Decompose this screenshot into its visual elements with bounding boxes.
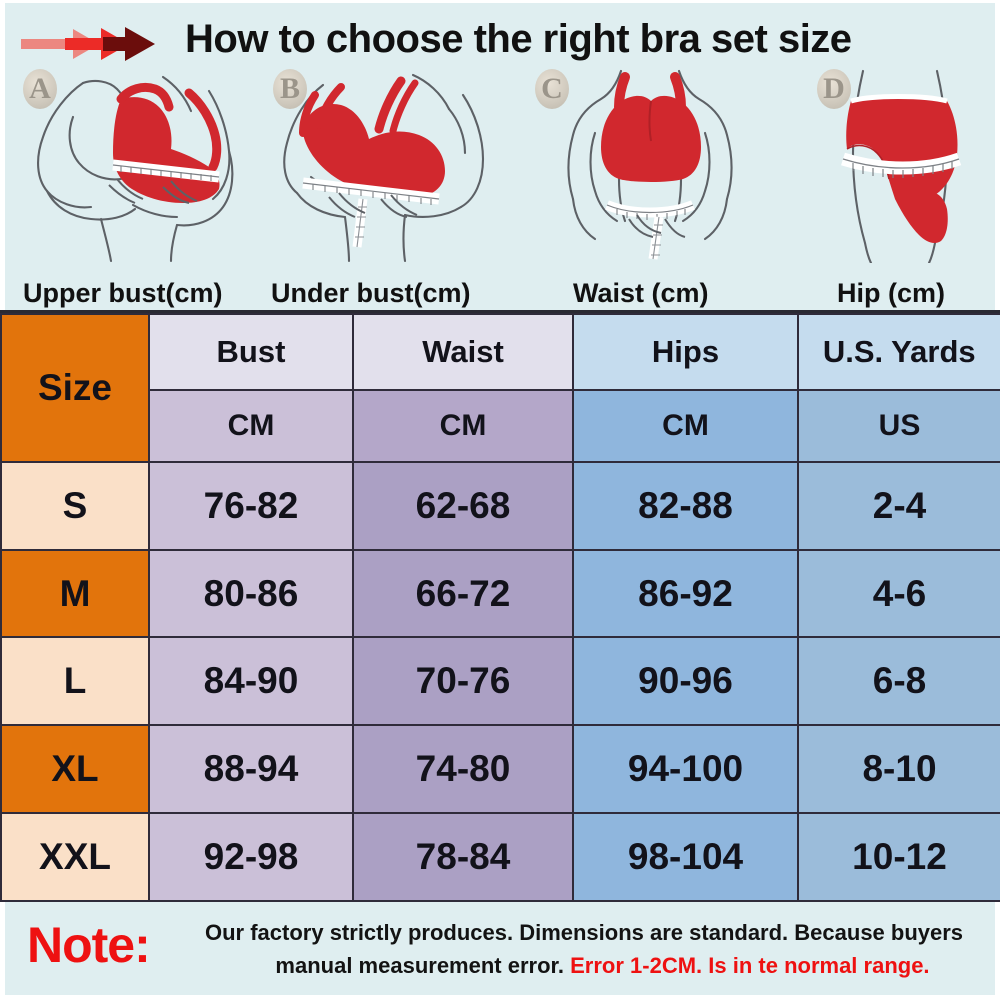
size-chart-table: Size Bust Waist Hips U.S. Yards CM CM CM… bbox=[0, 313, 1000, 902]
cell-size: S bbox=[1, 462, 149, 550]
guide-item-hip: D bbox=[795, 65, 1000, 311]
header-size: Size bbox=[1, 314, 149, 462]
table-row: S 76-82 62-68 82-88 2-4 bbox=[1, 462, 1000, 550]
size-chart-page: How to choose the right bra set size A bbox=[0, 0, 1000, 1000]
guide-figures: A bbox=[5, 65, 1000, 311]
note-line-2-red: Error 1-2CM. Is in te normal range. bbox=[570, 953, 929, 978]
cell-bust: 92-98 bbox=[149, 813, 353, 901]
cell-us: 8-10 bbox=[798, 725, 1000, 813]
cell-us: 2-4 bbox=[798, 462, 1000, 550]
guide-label-hip: Hip (cm) bbox=[795, 278, 1000, 309]
cell-us: 10-12 bbox=[798, 813, 1000, 901]
guide-letter-b: B bbox=[273, 69, 307, 109]
cell-waist: 70-76 bbox=[353, 637, 573, 725]
triple-arrow-icon bbox=[21, 25, 181, 63]
cell-waist: 62-68 bbox=[353, 462, 573, 550]
guide-label-upper-bust: Upper bust(cm) bbox=[13, 278, 273, 309]
note-line-2: manual measurement error. Error 1-2CM. I… bbox=[205, 949, 990, 982]
guide-label-under-bust: Under bust(cm) bbox=[263, 278, 521, 309]
cell-hips: 90-96 bbox=[573, 637, 798, 725]
size-chart-table-wrapper: Size Bust Waist Hips U.S. Yards CM CM CM… bbox=[0, 310, 1000, 902]
unit-waist: CM bbox=[353, 390, 573, 462]
table-row: XXL 92-98 78-84 98-104 10-12 bbox=[1, 813, 1000, 901]
cell-us: 4-6 bbox=[798, 550, 1000, 638]
cell-hips: 82-88 bbox=[573, 462, 798, 550]
guide-label-waist: Waist (cm) bbox=[525, 278, 823, 309]
cell-size: XXL bbox=[1, 813, 149, 901]
cell-hips: 94-100 bbox=[573, 725, 798, 813]
cell-us: 6-8 bbox=[798, 637, 1000, 725]
guide-letter-a: A bbox=[23, 69, 57, 109]
note-section: Note: Our factory strictly produces. Dim… bbox=[0, 902, 1000, 1000]
cell-hips: 98-104 bbox=[573, 813, 798, 901]
unit-us: US bbox=[798, 390, 1000, 462]
header-us-yards: U.S. Yards bbox=[798, 314, 1000, 390]
table-row: M 80-86 66-72 86-92 4-6 bbox=[1, 550, 1000, 638]
note-body: Our factory strictly produces. Dimension… bbox=[205, 916, 990, 982]
cell-bust: 88-94 bbox=[149, 725, 353, 813]
header-hips: Hips bbox=[573, 314, 798, 390]
cell-size: L bbox=[1, 637, 149, 725]
cell-bust: 80-86 bbox=[149, 550, 353, 638]
header-waist: Waist bbox=[353, 314, 573, 390]
guide-letter-d: D bbox=[817, 69, 851, 109]
cell-waist: 74-80 bbox=[353, 725, 573, 813]
note-line-2-black: manual measurement error. bbox=[275, 953, 564, 978]
unit-bust: CM bbox=[149, 390, 353, 462]
cell-waist: 78-84 bbox=[353, 813, 573, 901]
cell-waist: 66-72 bbox=[353, 550, 573, 638]
guide-letter-c: C bbox=[535, 69, 569, 109]
measurement-guide-panel: How to choose the right bra set size A bbox=[0, 0, 1000, 310]
cell-size: M bbox=[1, 550, 149, 638]
note-label: Note: bbox=[27, 916, 150, 974]
cell-size: XL bbox=[1, 725, 149, 813]
note-line-1: Our factory strictly produces. Dimension… bbox=[205, 916, 990, 949]
cell-bust: 84-90 bbox=[149, 637, 353, 725]
guide-item-under-bust: B bbox=[263, 65, 513, 311]
table-header-row-units: CM CM CM US bbox=[1, 390, 1000, 462]
cell-bust: 76-82 bbox=[149, 462, 353, 550]
title-row: How to choose the right bra set size bbox=[5, 11, 1000, 71]
unit-hips: CM bbox=[573, 390, 798, 462]
guide-item-waist: C bbox=[525, 65, 775, 311]
table-row: XL 88-94 74-80 94-100 8-10 bbox=[1, 725, 1000, 813]
table-row: L 84-90 70-76 90-96 6-8 bbox=[1, 637, 1000, 725]
header-bust: Bust bbox=[149, 314, 353, 390]
page-title: How to choose the right bra set size bbox=[185, 11, 995, 67]
table-header-row-titles: Size Bust Waist Hips U.S. Yards bbox=[1, 314, 1000, 390]
cell-hips: 86-92 bbox=[573, 550, 798, 638]
guide-item-upper-bust: A bbox=[13, 65, 263, 311]
